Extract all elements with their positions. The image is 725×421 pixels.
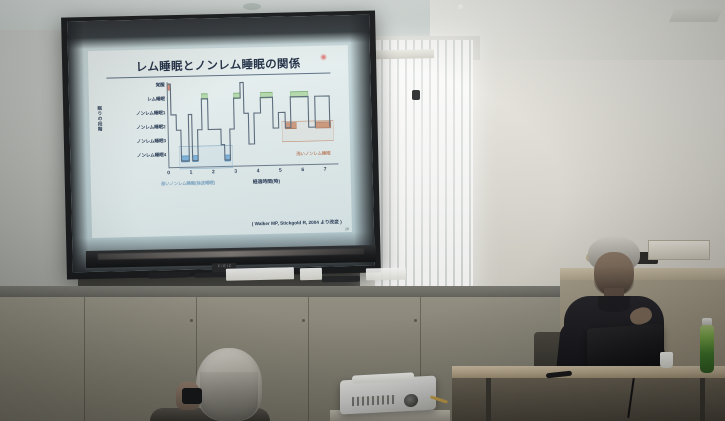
ceiling-speaker-icon [243, 3, 261, 10]
deep-sleep-annotation: 深いノンレム睡眠(徐波睡眠) [161, 180, 215, 187]
screen-shadow-top [67, 15, 370, 50]
counter-light-reflection-2 [300, 268, 322, 280]
y-tick-3: ノンレム睡眠2 [136, 124, 165, 131]
counter-light-reflection-3 [366, 268, 406, 281]
cabinet-handle[interactable] [414, 319, 417, 322]
desk-leg [700, 378, 705, 421]
slide-title: レム睡眠とノンレム睡眠の関係 [106, 55, 330, 79]
cabinet-handle[interactable] [190, 319, 193, 322]
screen-surface: レム睡眠とノンレム睡眠の関係 眠りの段階 覚醒 レム睡眠 ノンレム睡眠1 ノンレ… [67, 15, 375, 273]
desk-leg [486, 378, 491, 421]
monitor-reflection [97, 248, 364, 260]
ceiling-light-icon [458, 4, 463, 9]
remote-control [148, 271, 190, 278]
remote-control-secondary [322, 276, 360, 283]
screen-shadow-right [349, 15, 375, 266]
x-tick-4: 4 [257, 168, 260, 174]
screen-shadow-left [67, 21, 89, 272]
y-axis-title: 眠りの段階 [97, 106, 102, 132]
y-tick-2: ノンレム睡眠1 [136, 110, 165, 117]
x-tick-7: 7 [324, 167, 327, 173]
x-tick-5: 5 [279, 168, 282, 174]
x-tick-1: 1 [190, 170, 193, 176]
cabinet-handle[interactable] [302, 319, 305, 322]
light-sleep-annotation: 浅いノンレム睡眠 [296, 151, 330, 158]
ceiling-vent [669, 8, 723, 22]
slide-number: 20 [345, 227, 349, 231]
y-tick-1: レム睡眠 [147, 96, 165, 102]
presenter-desk-front [452, 378, 725, 421]
vertical-blinds [375, 40, 473, 292]
x-tick-0: 0 [167, 170, 170, 176]
laser-pointer-dot [320, 54, 327, 61]
lecture-room-photo: レム睡眠とノンレム睡眠の関係 眠りの段階 覚醒 レム睡眠 ノンレム睡眠1 ノンレ… [0, 0, 725, 421]
y-tick-0: 覚醒 [156, 82, 165, 88]
presenter-collar [598, 296, 630, 312]
audience-device [182, 388, 202, 404]
slide-citation: ( Walker MP, Stickgold R, 2004 より改変 ) [252, 219, 342, 227]
x-tick-6: 6 [301, 167, 304, 173]
counter-light-reflection-1 [226, 267, 294, 280]
presentation-slide: レム睡眠とノンレム睡眠の関係 眠りの段階 覚醒 レム睡眠 ノンレム睡眠1 ノンレ… [88, 45, 352, 238]
y-tick-5: ノンレム睡眠4 [137, 152, 166, 159]
projection-screen: レム睡眠とノンレム睡眠の関係 眠りの段階 覚醒 レム睡眠 ノンレム睡眠1 ノンレ… [61, 10, 381, 279]
y-tick-4: ノンレム睡眠3 [137, 138, 166, 145]
presenter-desk-top [452, 366, 725, 378]
audience-hair-shadow [200, 372, 258, 421]
screen-rail-end-right [412, 90, 420, 100]
paper-cup [660, 352, 673, 368]
y-axis-tick-labels: 覚醒 レム睡眠 ノンレム睡眠1 ノンレム睡眠2 ノンレム睡眠3 ノンレム睡眠4 [103, 82, 167, 169]
x-tick-3: 3 [234, 169, 237, 175]
hypnogram-chart: 眠りの段階 覚醒 レム睡眠 ノンレム睡眠1 ノンレム睡眠2 ノンレム睡眠3 ノン… [97, 78, 343, 188]
green-tea-bottle [700, 325, 714, 373]
x-axis-title: 経過時間(時) [253, 178, 280, 186]
x-tick-2: 2 [212, 169, 215, 175]
